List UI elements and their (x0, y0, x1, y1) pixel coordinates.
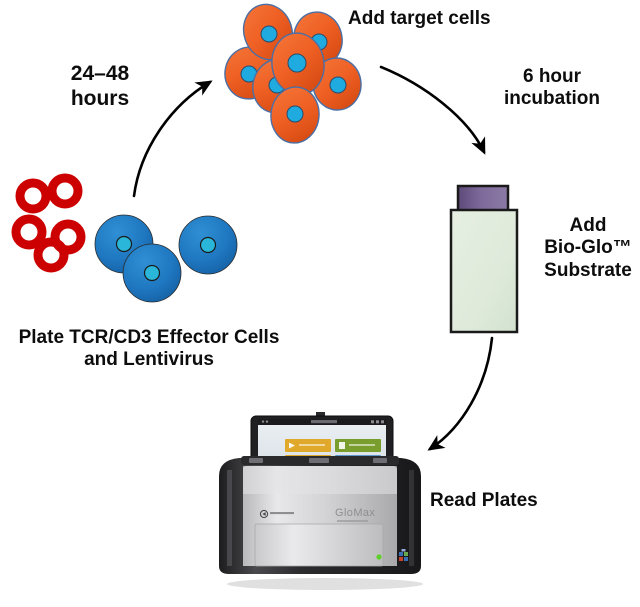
instrument-shadow (227, 578, 423, 590)
cell-nucleus (261, 26, 277, 42)
lentivirus-ring (52, 178, 78, 204)
svg-text:GloMax: GloMax (335, 507, 375, 519)
arrow-substrate-to-reader (430, 338, 492, 449)
screen-tile[interactable] (285, 439, 331, 452)
screen-title-bar (311, 420, 337, 423)
label-plate-effector-cells: Plate TCR/CD3 Effector Cells and Lentivi… (2, 327, 296, 372)
effector-cell (123, 244, 181, 302)
cell-nucleus (145, 266, 160, 281)
bio-glo-substrate-bottle (451, 186, 517, 332)
incubation-time-line1: 24–48 (30, 62, 170, 87)
cell-nucleus (330, 77, 346, 93)
lentivirus-particles (16, 178, 81, 268)
cell-nucleus (201, 238, 216, 253)
label-incubation-time: 24–48 hours (30, 62, 170, 112)
lentivirus-ring (16, 219, 42, 245)
add-substrate-line3: Substrate (536, 260, 640, 282)
incubation-time-line2: hours (30, 87, 170, 112)
lentivirus-ring (20, 183, 46, 209)
arrow-target-to-substrate (381, 67, 484, 152)
target-cells (221, 0, 364, 145)
add-substrate-line1: Add (536, 215, 640, 237)
label-add-bio-glo-substrate: Add Bio-Glo™ Substrate (536, 215, 640, 282)
cell-nucleus (288, 54, 306, 72)
status-led (376, 554, 381, 559)
protocol-icon (339, 442, 345, 449)
effector-cell (179, 216, 237, 274)
plate-drawer (255, 524, 383, 566)
plate-effector-line2: and Lentivirus (2, 349, 296, 371)
glomax-plate-reader: GloMax GloMax (213, 398, 427, 590)
cell-nucleus (117, 237, 132, 252)
incubation-6h-line1: 6 hour (482, 66, 622, 88)
label-add-target-cells: Add target cells (348, 8, 518, 30)
label-read-plates: Read Plates (430, 490, 590, 512)
incubation-6h-line2: incubation (482, 88, 622, 110)
screen-tile[interactable] (335, 439, 381, 452)
lentivirus-ring (38, 242, 64, 268)
workflow-diagram: GloMax GloMax (0, 0, 640, 607)
bottle-body (451, 210, 517, 332)
plate-effector-line1: Plate TCR/CD3 Effector Cells (2, 327, 296, 349)
cell-nucleus (287, 106, 303, 122)
tcr-cd3-effector-cells (95, 215, 237, 302)
add-substrate-line2: Bio-Glo™ (536, 237, 640, 259)
label-incubation-6-hour: 6 hour incubation (482, 66, 622, 111)
